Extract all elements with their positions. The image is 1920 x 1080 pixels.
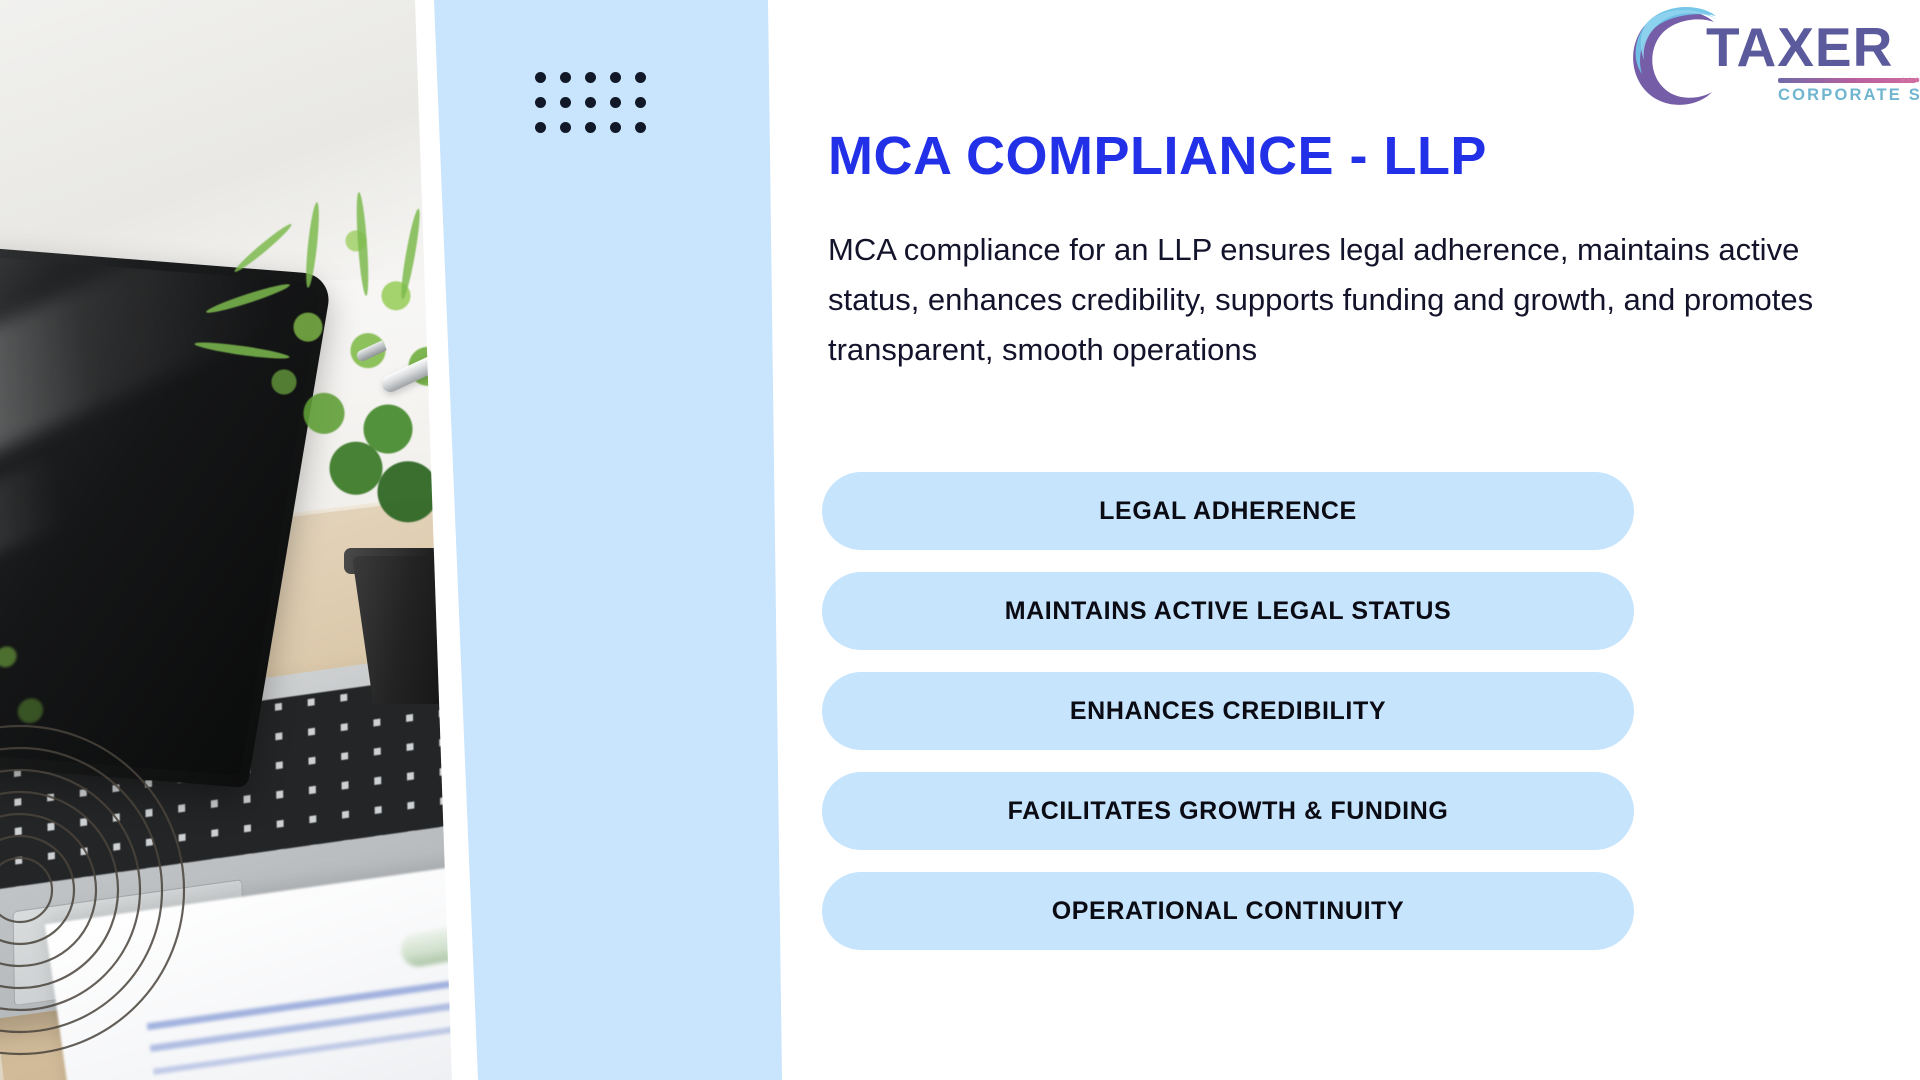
- grid-dot: [610, 72, 621, 83]
- page-title: MCA COMPLIANCE - LLP: [828, 125, 1487, 187]
- screen-plant-reflection: [0, 544, 161, 775]
- grid-dot: [585, 72, 596, 83]
- benefit-label: LEGAL ADHERENCE: [1099, 497, 1357, 526]
- benefit-label: FACILITATES GROWTH & FUNDING: [1008, 797, 1449, 826]
- grid-dot: [560, 97, 571, 108]
- benefit-pill[interactable]: LEGAL ADHERENCE: [822, 472, 1634, 550]
- benefit-label: OPERATIONAL CONTINUITY: [1052, 897, 1405, 926]
- grid-dot: [560, 72, 571, 83]
- grid-dot: [635, 122, 646, 133]
- benefit-label: MAINTAINS ACTIVE LEGAL STATUS: [1005, 597, 1452, 626]
- grid-dot: [535, 122, 546, 133]
- benefit-pill[interactable]: OPERATIONAL CONTINUITY: [822, 872, 1634, 950]
- grid-dot: [610, 97, 621, 108]
- slide-description: MCA compliance for an LLP ensures legal …: [828, 225, 1850, 376]
- logo-tagline: CORPORATE SERVICES: [1778, 86, 1920, 105]
- slide-canvas: TAXER CORPORATE SERVICES MCA COMPLIANCE …: [0, 0, 1920, 1080]
- grid-dot: [585, 97, 596, 108]
- logo-accent-bar: [1778, 78, 1916, 83]
- benefit-pill[interactable]: MAINTAINS ACTIVE LEGAL STATUS: [822, 572, 1634, 650]
- grid-dot: [560, 122, 571, 133]
- grid-dot: [610, 122, 621, 133]
- benefit-pill[interactable]: ENHANCES CREDIBILITY: [822, 672, 1634, 750]
- slide-content: MCA COMPLIANCE - LLP MCA compliance for …: [828, 0, 1848, 1080]
- dot-grid-decoration: [535, 72, 660, 147]
- benefit-pill[interactable]: FACILITATES GROWTH & FUNDING: [822, 772, 1634, 850]
- grid-dot: [635, 72, 646, 83]
- grid-dot: [585, 122, 596, 133]
- grid-dot: [635, 97, 646, 108]
- grid-dot: [535, 72, 546, 83]
- taxer-logo[interactable]: TAXER CORPORATE SERVICES: [1628, 2, 1914, 114]
- logo-wordmark: TAXER: [1706, 20, 1893, 75]
- benefits-list: LEGAL ADHERENCE MAINTAINS ACTIVE LEGAL S…: [822, 472, 1634, 972]
- benefit-label: ENHANCES CREDIBILITY: [1070, 697, 1386, 726]
- grid-dot: [535, 97, 546, 108]
- logo-accent-dots: [1900, 76, 1920, 85]
